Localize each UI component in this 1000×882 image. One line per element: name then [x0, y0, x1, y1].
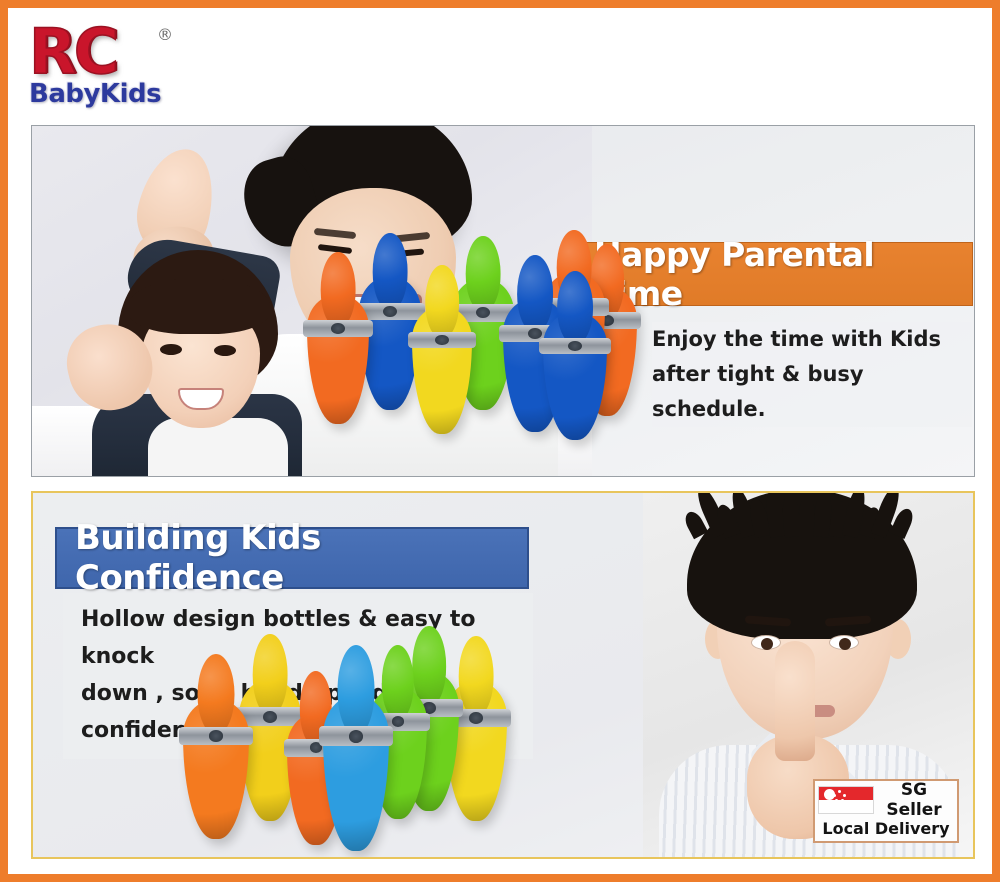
caption-line-1: Hollow design bottles & easy to knock: [81, 601, 521, 675]
pin-band: [179, 727, 253, 745]
caption-line-2: after tight & busy schedule.: [652, 357, 972, 427]
section-happy-parental-time: Happy Parental Time Enjoy the time with …: [31, 125, 975, 477]
logo-rc-text: RC: [29, 21, 219, 83]
boy-eye-right: [829, 635, 859, 650]
brand-logo: RC ® BabyKids: [29, 21, 219, 113]
star-icon: [835, 799, 838, 802]
pin-yellow: [412, 306, 472, 434]
caption-happy-parental-time: Enjoy the time with Kids after tight & b…: [652, 322, 972, 427]
section-building-kids-confidence: Building Kids Confidence Hollow design b…: [31, 491, 975, 859]
pin-orange: [307, 294, 369, 424]
pin-neck: [382, 645, 414, 722]
pin-band: [539, 338, 611, 355]
bowling-pin-set-top: [307, 236, 637, 477]
pin-blue: [543, 312, 607, 440]
pin-neck: [466, 236, 501, 313]
star-icon: [841, 799, 844, 802]
boy-hair-spikes: [687, 493, 917, 537]
sg-badge-top-row: SG Seller: [818, 784, 954, 815]
girl-shirt: [148, 418, 288, 476]
pin-band: [319, 726, 393, 746]
outer-orange-frame: RC ® BabyKids: [0, 0, 1000, 882]
singapore-flag-icon: [818, 786, 874, 814]
banner-building-kids-confidence: Building Kids Confidence: [55, 527, 529, 589]
sg-seller-label: SG Seller: [874, 780, 954, 820]
header: RC ® BabyKids: [11, 11, 989, 115]
local-delivery-label: Local Delivery: [818, 815, 954, 841]
pin-neck: [557, 271, 593, 345]
content-area: RC ® BabyKids: [8, 8, 992, 874]
star-icon: [833, 794, 836, 797]
pin-neck: [425, 265, 459, 339]
boy-eye-left: [751, 635, 781, 650]
thumbs-up-icon: [775, 641, 815, 761]
sg-seller-badge: SG Seller Local Delivery: [813, 779, 959, 843]
pin-neck: [459, 636, 494, 717]
star-icon: [838, 790, 841, 793]
girl-eye-left: [160, 344, 182, 355]
pin-orange: [183, 699, 249, 839]
girl-fringe: [128, 278, 270, 334]
girl-eye-right: [214, 345, 236, 356]
pin-band: [408, 332, 475, 349]
banner-happy-parental-time: Happy Parental Time: [575, 242, 973, 306]
pin-neck: [373, 233, 408, 311]
pin-neck: [253, 634, 288, 716]
registered-trademark-icon: ®: [157, 25, 173, 44]
pin-neck: [338, 645, 375, 735]
pin-neck: [517, 255, 553, 333]
star-icon: [843, 794, 846, 797]
pin-band: [303, 320, 372, 337]
pin-neck: [198, 654, 235, 735]
pin-neck: [321, 252, 356, 327]
caption-line-1: Enjoy the time with Kids: [652, 322, 972, 357]
